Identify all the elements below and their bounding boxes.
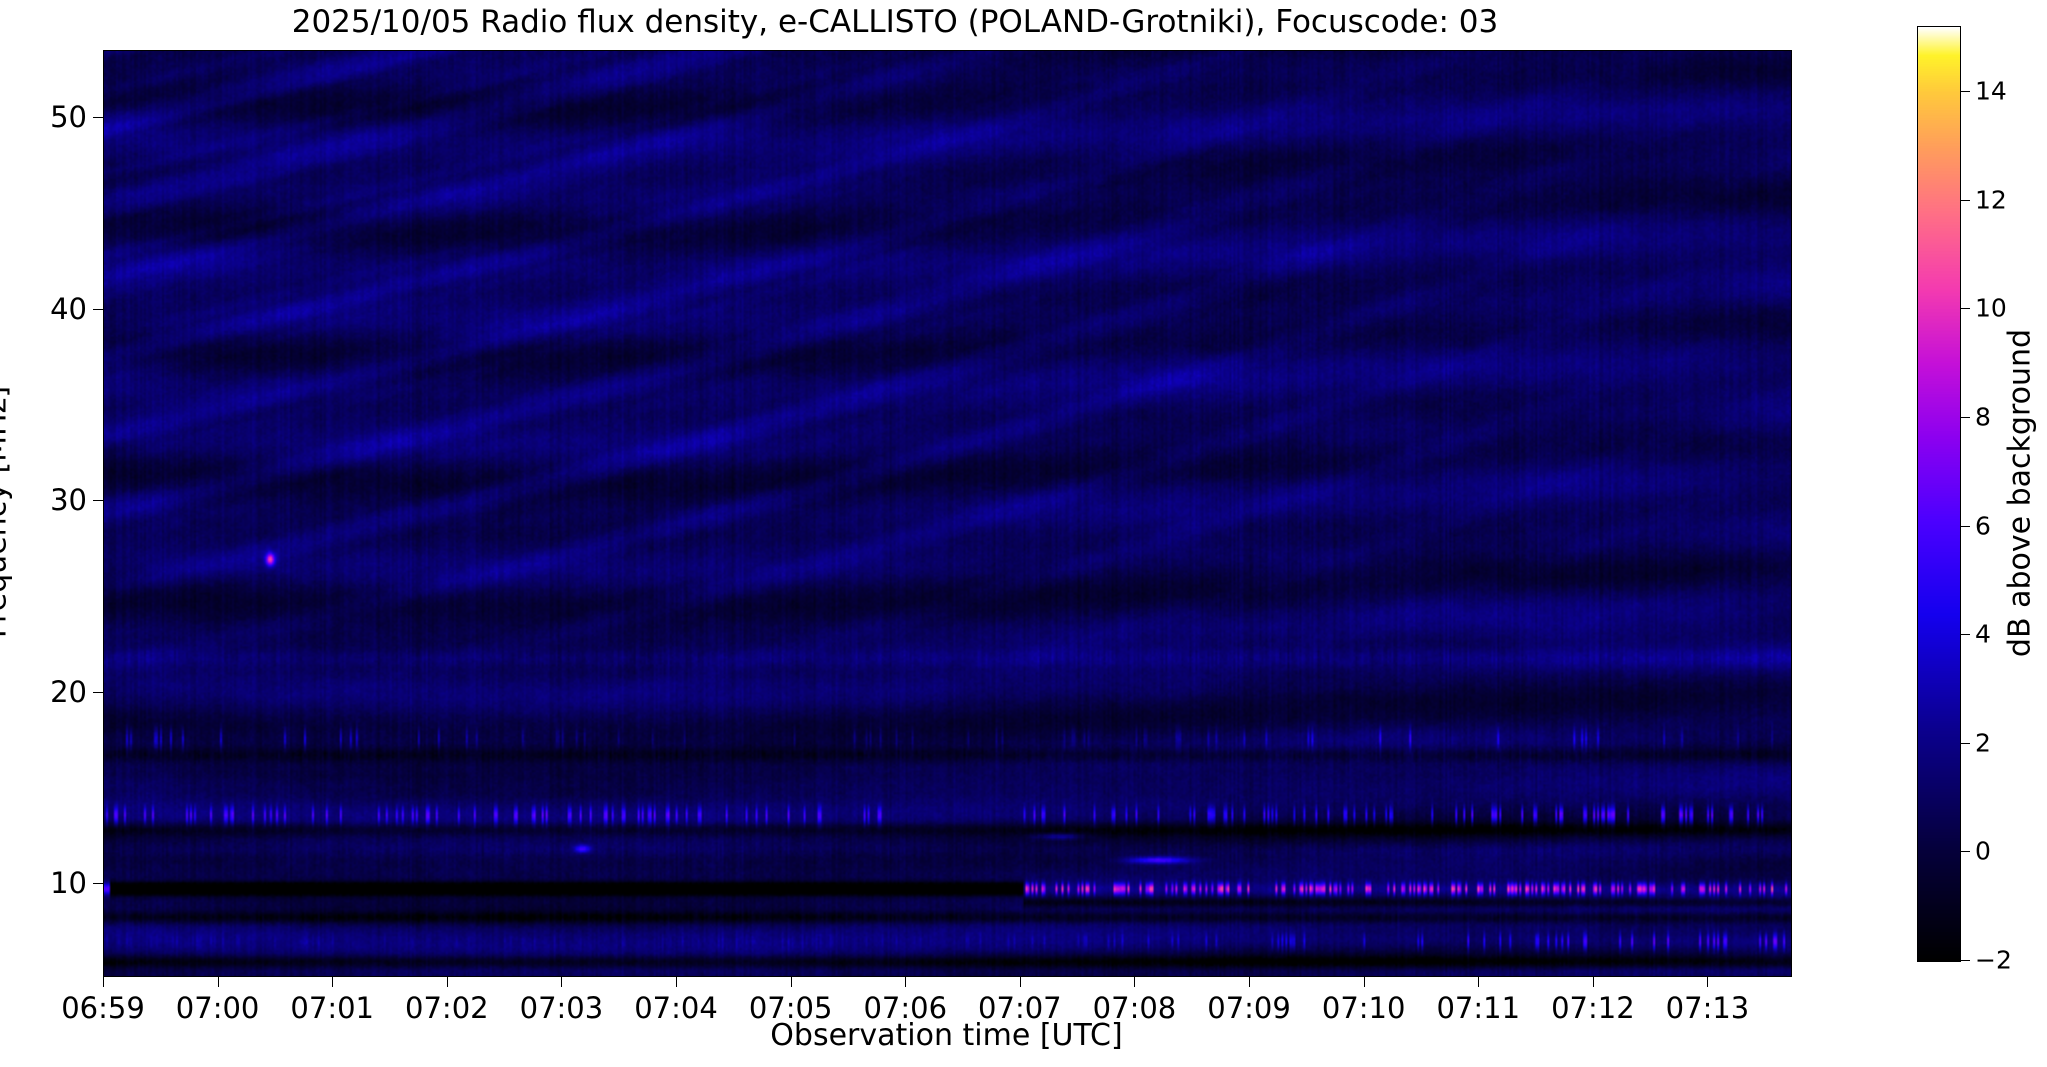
- colorbar-tick-mark: [1961, 308, 1970, 309]
- x-tick-mark: [1593, 977, 1594, 987]
- x-tick-mark: [1478, 977, 1479, 987]
- figure-root: 2025/10/05 Radio flux density, e-CALLIST…: [0, 0, 2047, 1067]
- x-tick-mark: [218, 977, 219, 987]
- y-axis-label: Frequency [MHz]: [0, 386, 14, 638]
- x-tick-mark: [1249, 977, 1250, 987]
- x-tick-mark: [1707, 977, 1708, 987]
- colorbar-tick-mark: [1961, 200, 1970, 201]
- colorbar-tick-label: 2: [1975, 728, 1991, 757]
- colorbar-tick-mark: [1961, 960, 1970, 961]
- y-tick-mark: [93, 117, 103, 118]
- x-tick-mark: [1020, 977, 1021, 987]
- y-tick-label: 40: [50, 292, 87, 326]
- x-tick-mark: [103, 977, 104, 987]
- colorbar-tick-mark: [1961, 743, 1970, 744]
- colorbar-tick-label: −2: [1975, 946, 2012, 975]
- x-tick-mark: [1134, 977, 1135, 987]
- x-axis-label: Observation time [UTC]: [103, 1018, 1790, 1053]
- colorbar-tick-label: 0: [1975, 837, 1991, 866]
- colorbar-tick-mark: [1961, 417, 1970, 418]
- colorbar-tick-mark: [1961, 91, 1970, 92]
- y-tick-mark: [93, 692, 103, 693]
- x-tick-mark: [447, 977, 448, 987]
- y-tick-label: 30: [50, 483, 87, 517]
- colorbar-tick-label: 12: [1975, 185, 2007, 214]
- spectrogram-image: [104, 51, 1791, 976]
- x-tick-mark: [791, 977, 792, 987]
- colorbar-tick-label: 8: [1975, 402, 1991, 431]
- x-tick-mark: [905, 977, 906, 987]
- y-axis: 5040302010: [0, 50, 103, 975]
- colorbar-tick-label: 6: [1975, 511, 1991, 540]
- x-tick-mark: [561, 977, 562, 987]
- colorbar-tick-label: 10: [1975, 294, 2007, 323]
- page-title: 2025/10/05 Radio flux density, e-CALLIST…: [0, 4, 1790, 40]
- spectrogram-plot[interactable]: [103, 50, 1792, 977]
- y-tick-label: 50: [50, 100, 87, 134]
- y-tick-mark: [93, 309, 103, 310]
- colorbar-tick-label: 14: [1975, 77, 2007, 106]
- x-tick-mark: [1364, 977, 1365, 987]
- y-tick-mark: [93, 500, 103, 501]
- colorbar-tick-label: 4: [1975, 620, 1991, 649]
- colorbar-tick-mark: [1961, 526, 1970, 527]
- y-tick-label: 20: [50, 675, 87, 709]
- y-tick-mark: [93, 883, 103, 884]
- x-tick-mark: [332, 977, 333, 987]
- colorbar-tick-mark: [1961, 634, 1970, 635]
- colorbar-label: dB above background: [2003, 329, 2038, 657]
- colorbar-tick-mark: [1961, 851, 1970, 852]
- x-tick-mark: [676, 977, 677, 987]
- y-tick-label: 10: [50, 866, 87, 900]
